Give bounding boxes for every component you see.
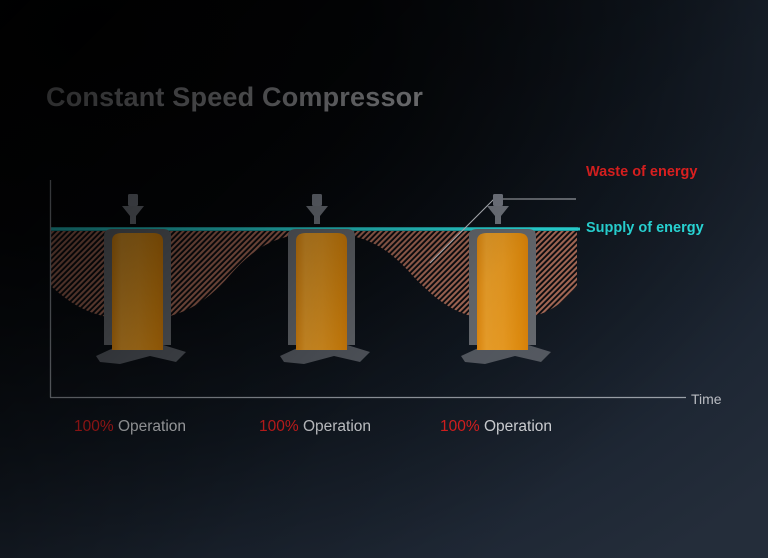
operation-text-1: Operation (118, 418, 186, 435)
compressor-2-valve-stem (312, 194, 322, 206)
legend-item-waste-of-energy: Waste of energy (586, 164, 697, 180)
operation-label-2: 100% Operation (259, 418, 371, 436)
operation-label-3: 100% Operation (440, 418, 552, 436)
operation-text-3: Operation (484, 418, 552, 435)
x-axis-label: Time (691, 391, 722, 407)
compressor-2 (280, 194, 370, 364)
chart-plot (0, 0, 768, 558)
compressor-1-valve-stem (128, 194, 138, 206)
operation-percent-2: 100% (259, 418, 299, 435)
slide-canvas: Constant Speed Compressor (0, 0, 768, 558)
compressor-3-valve-stem (493, 194, 503, 206)
compressor-3-valve-body (487, 206, 509, 224)
legend-item-supply-of-energy: Supply of energy (586, 220, 704, 236)
operation-percent-1: 100% (74, 418, 114, 435)
compressor-1-valve-body (122, 206, 144, 224)
operation-percent-3: 100% (440, 418, 480, 435)
operation-text-2: Operation (303, 418, 371, 435)
compressor-1-body (112, 233, 163, 350)
operation-label-1: 100% Operation (74, 418, 186, 436)
compressor-2-valve-body (306, 206, 328, 224)
compressor-3-body (477, 233, 528, 350)
compressor-2-body (296, 233, 347, 350)
